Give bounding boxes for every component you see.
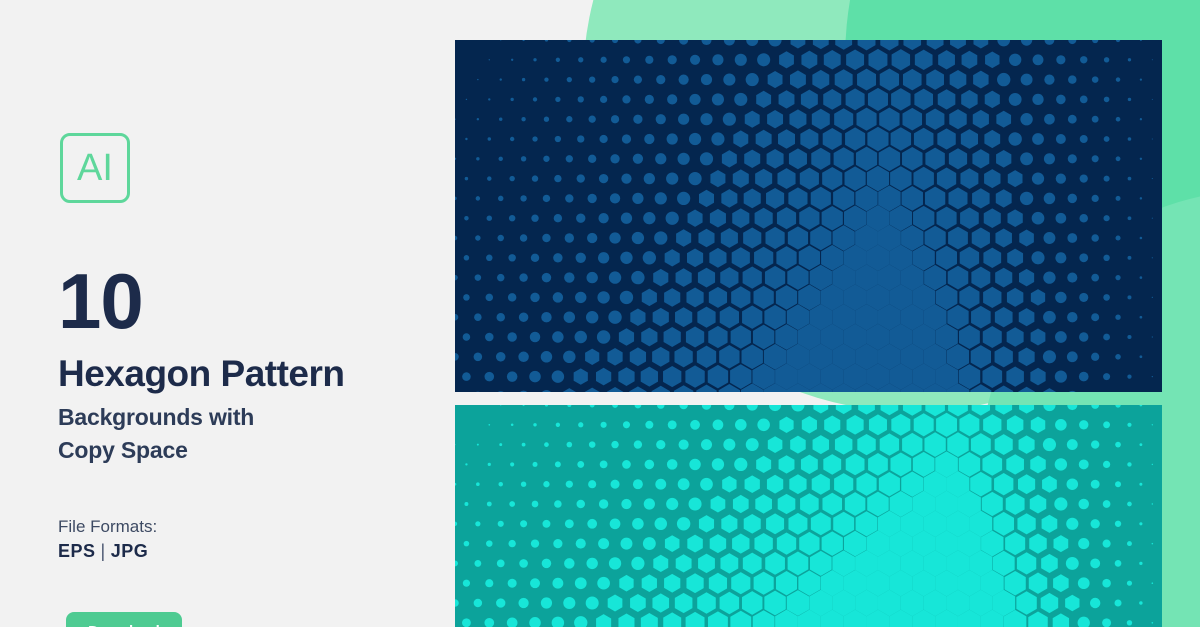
subtitle-line-1: Backgrounds with [58, 404, 254, 430]
navy-hexagon-pattern [455, 40, 1162, 392]
file-formats-value: EPS|JPG [58, 541, 148, 562]
format-jpg: JPG [111, 541, 149, 561]
ai-format-badge-icon: AI [60, 133, 130, 203]
page-subtitle: Backgrounds with Copy Space [58, 401, 254, 466]
subtitle-line-2: Copy Space [58, 434, 254, 467]
item-count: 10 [58, 262, 143, 340]
file-formats-label: File Formats: [58, 517, 157, 537]
page-title: Hexagon Pattern [58, 354, 345, 395]
format-eps: EPS [58, 541, 96, 561]
teal-hexagon-panel[interactable] [455, 405, 1162, 627]
navy-hexagon-panel[interactable] [455, 40, 1162, 392]
format-separator: | [96, 541, 111, 561]
download-button[interactable]: Download [66, 612, 182, 627]
banner-canvas: AI 10 Hexagon Pattern Backgrounds with C… [0, 0, 1200, 627]
ai-badge-label: AI [77, 149, 113, 187]
teal-hexagon-pattern [455, 405, 1162, 627]
info-sidebar: AI 10 Hexagon Pattern Backgrounds with C… [0, 0, 455, 627]
